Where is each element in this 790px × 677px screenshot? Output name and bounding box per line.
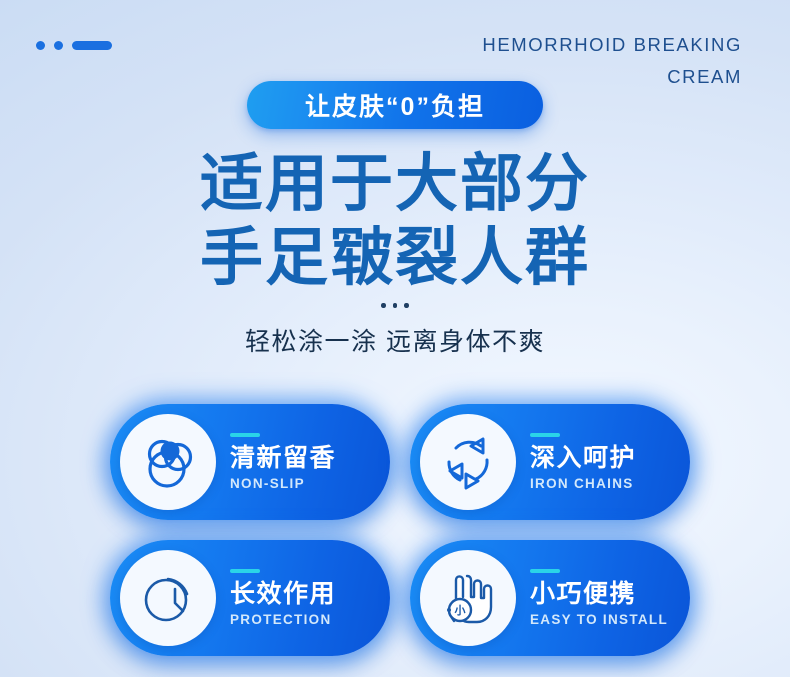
accent-dash xyxy=(230,569,260,573)
feature-card-deep-care[interactable]: 深入呵护 IRON CHAINS xyxy=(410,404,690,520)
zero-burden-badge: 让皮肤“0”负担 xyxy=(247,81,543,129)
feature-card-grid: 清新留香 NON-SLIP xyxy=(110,404,690,656)
ok-hand-icon: 小 xyxy=(420,550,516,646)
card-subtitle: NON-SLIP xyxy=(230,476,336,491)
feature-card-long-lasting[interactable]: 长效作用 PROTECTION xyxy=(110,540,390,656)
card-subtitle: IRON CHAINS xyxy=(530,476,636,491)
card-title: 长效作用 xyxy=(230,580,336,609)
headline-line-2: 手足皲裂人群 xyxy=(0,221,790,295)
clock-icon xyxy=(120,550,216,646)
card-title: 清新留香 xyxy=(230,444,336,473)
decor-dot-1 xyxy=(36,41,45,50)
decor-dot-2 xyxy=(54,41,63,50)
badge-label: 让皮肤“0”负担 xyxy=(305,87,485,123)
feature-card-portable[interactable]: 小 小巧便携 EASY TO INSTALL xyxy=(410,540,690,656)
card-title: 小巧便携 xyxy=(530,580,668,609)
decor-bar xyxy=(72,41,112,50)
recycle-arrows-icon xyxy=(420,414,516,510)
card-text-block: 小巧便携 EASY TO INSTALL xyxy=(530,569,668,627)
page-title: 适用于大部分 手足皲裂人群 xyxy=(0,147,790,295)
promo-poster: HEMORRHOID BREAKING CREAM 让皮肤“0”负担 适用于大部… xyxy=(0,0,790,677)
headline-line-1: 适用于大部分 xyxy=(0,147,790,221)
card-title: 深入呵护 xyxy=(530,444,636,473)
card-text-block: 清新留香 NON-SLIP xyxy=(230,433,336,491)
separator-dot-1 xyxy=(381,303,386,308)
accent-dash xyxy=(530,569,560,573)
page-subtitle: 轻松涂一涂 远离身体不爽 xyxy=(0,322,790,358)
accent-dash xyxy=(230,433,260,437)
card-subtitle: PROTECTION xyxy=(230,612,336,627)
card-text-block: 深入呵护 IRON CHAINS xyxy=(530,433,636,491)
separator-dot-2 xyxy=(393,303,398,308)
dots-separator xyxy=(0,303,790,308)
brand-line-1: HEMORRHOID BREAKING xyxy=(482,34,742,55)
feature-card-fragrance[interactable]: 清新留香 NON-SLIP xyxy=(110,404,390,520)
separator-dot-3 xyxy=(404,303,409,308)
svg-text:小: 小 xyxy=(454,603,466,617)
decorative-dots-dash xyxy=(36,41,112,50)
card-subtitle: EASY TO INSTALL xyxy=(530,612,668,627)
accent-dash xyxy=(530,433,560,437)
card-text-block: 长效作用 PROTECTION xyxy=(230,569,336,627)
overlapping-circles-icon xyxy=(120,414,216,510)
